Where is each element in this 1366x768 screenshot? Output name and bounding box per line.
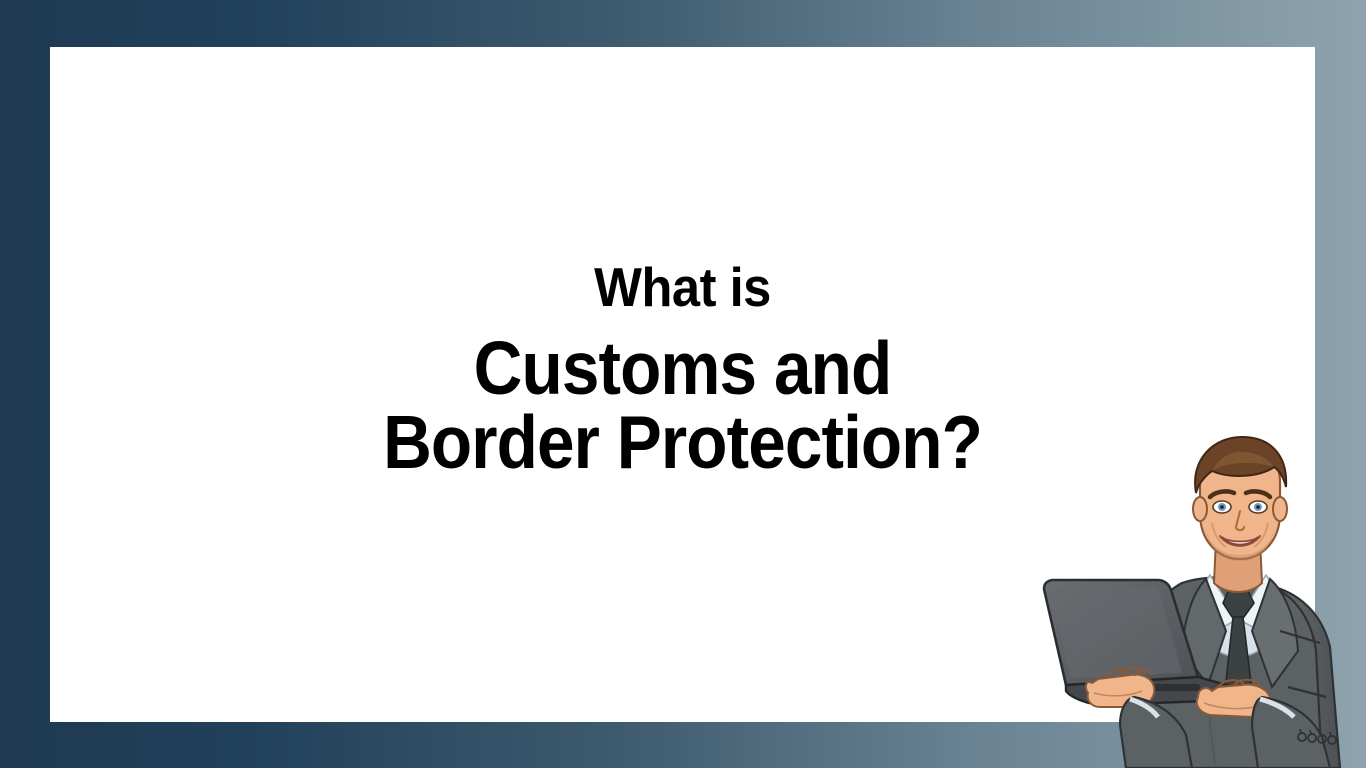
title-line-customs-and: Customs and: [113, 331, 1252, 406]
ear-left: [1193, 497, 1207, 521]
businessman-with-laptop-illustration: [1030, 435, 1366, 768]
laptop-keyboard-strip: [1148, 684, 1200, 691]
ear-right: [1273, 497, 1287, 521]
pupil-left: [1220, 505, 1224, 509]
title-line-what-is: What is: [101, 260, 1265, 315]
pupil-right: [1256, 505, 1260, 509]
presentation-slide: What is Customs and Border Protection?: [0, 0, 1366, 768]
